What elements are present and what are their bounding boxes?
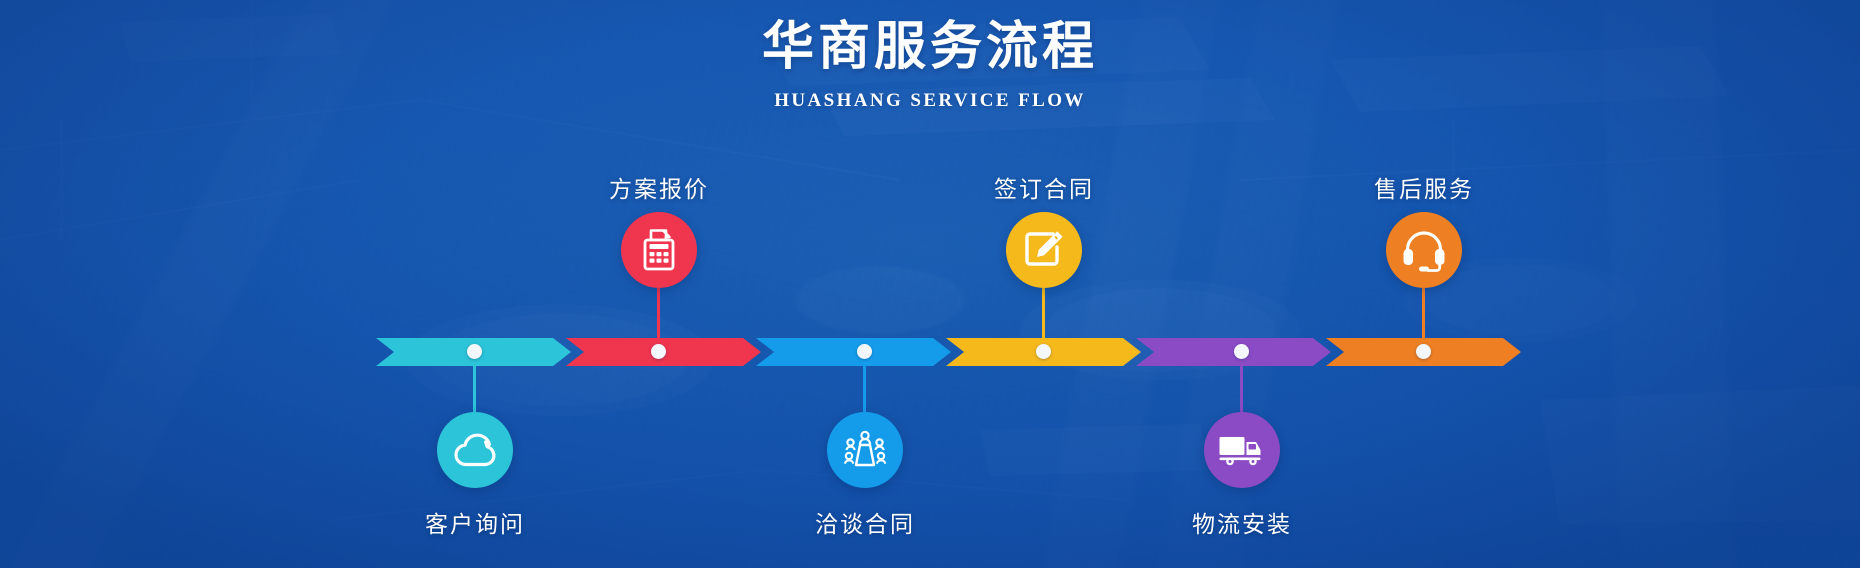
flow-label-5: 物流安装 [1112, 505, 1372, 539]
flow-dot-3 [857, 344, 872, 359]
service-flow-diagram: 客户询问 [0, 0, 1860, 568]
flow-node-4[interactable] [1006, 212, 1082, 288]
flow-label-1: 客户询问 [345, 505, 605, 539]
flow-dot-5 [1234, 344, 1249, 359]
flow-node-6[interactable] [1386, 212, 1462, 288]
flow-node-2[interactable] [621, 212, 697, 288]
flow-dot-4 [1036, 344, 1051, 359]
cloud-icon [454, 433, 496, 467]
flow-dot-2 [651, 344, 666, 359]
flow-label-6: 售后服务 [1294, 170, 1554, 204]
flow-segment-3[interactable] [756, 338, 951, 366]
pencil-edit-icon [1022, 228, 1066, 272]
flow-node-5[interactable] [1204, 412, 1280, 488]
flow-dot-6 [1416, 344, 1431, 359]
service-flow-banner: 华商服务流程 HUASHANG SERVICE FLOW [0, 0, 1860, 568]
delivery-truck-icon [1218, 433, 1266, 467]
flow-node-3[interactable] [827, 412, 903, 488]
flow-dot-1 [467, 344, 482, 359]
flow-label-2: 方案报价 [529, 170, 789, 204]
flow-label-3: 洽谈合同 [735, 505, 995, 539]
flow-node-1[interactable] [437, 412, 513, 488]
headset-icon [1401, 228, 1447, 272]
meeting-table-icon [842, 429, 888, 471]
flow-label-4: 签订合同 [914, 170, 1174, 204]
calculator-receipt-icon [639, 228, 679, 272]
